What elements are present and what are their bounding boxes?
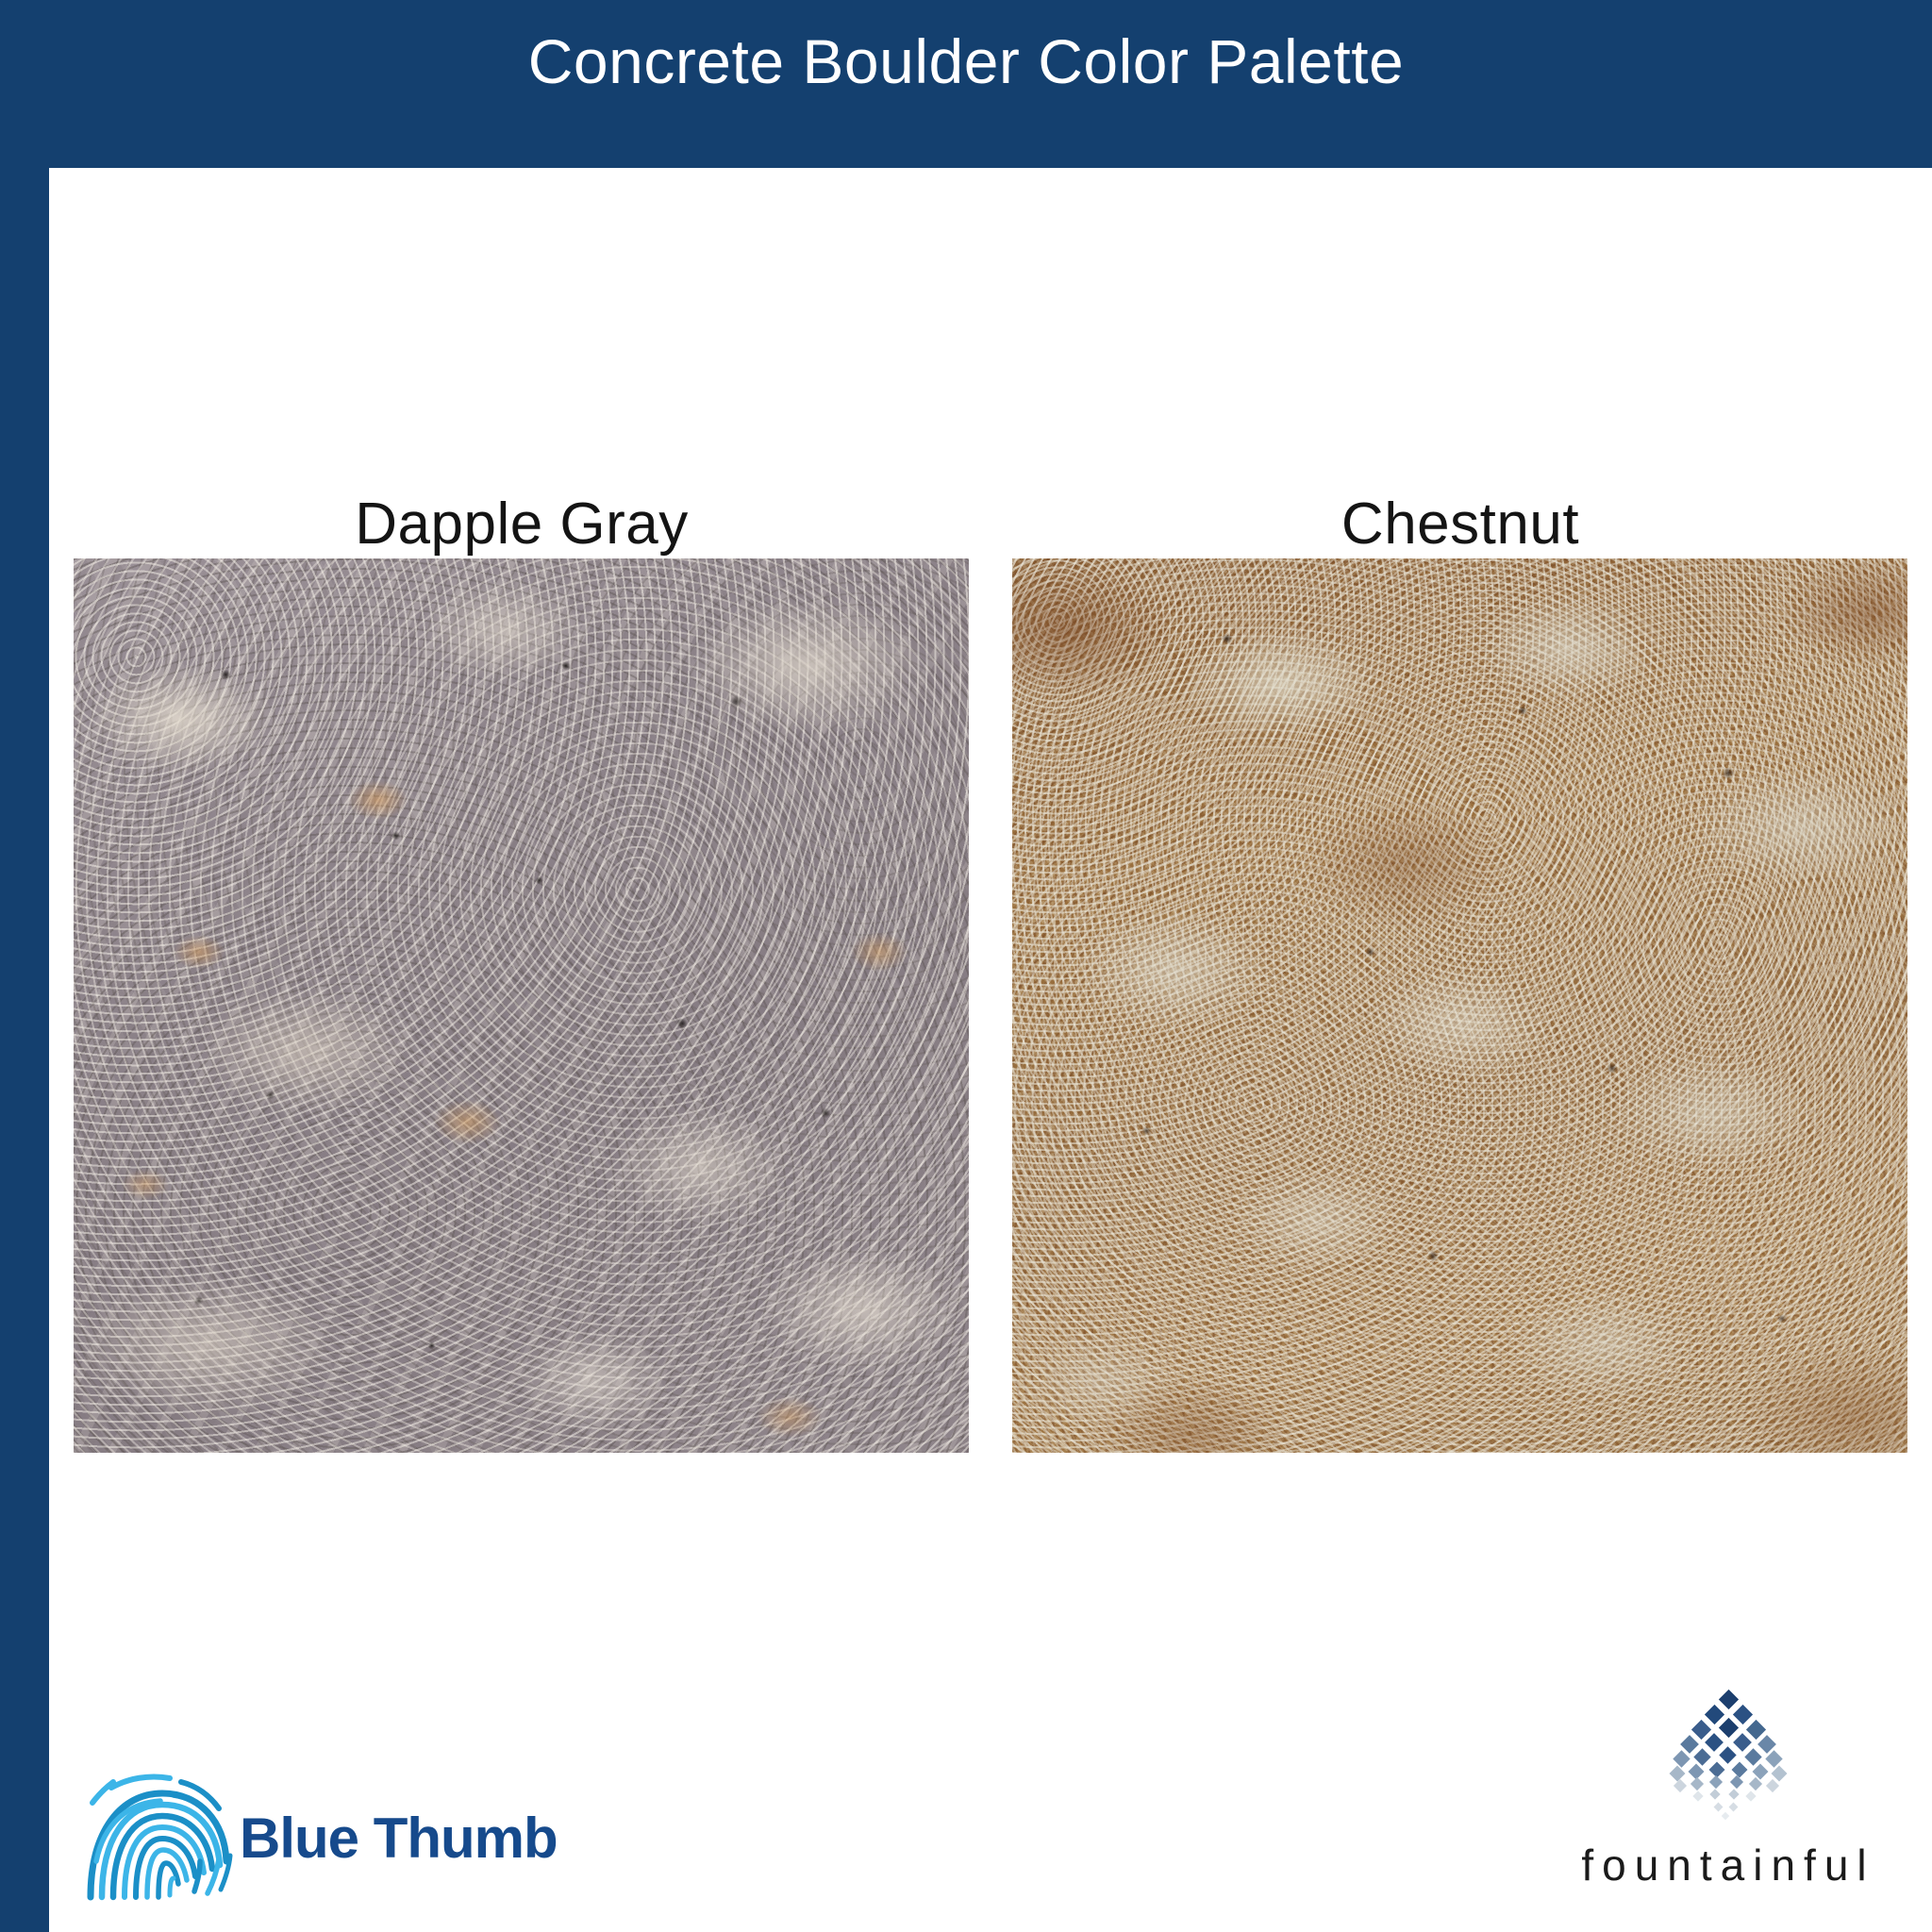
page-title: Concrete Boulder Color Palette [528, 30, 1405, 92]
header-bar: Concrete Boulder Color Palette [0, 0, 1932, 168]
brand-logo-blue-thumb[interactable]: Blue Thumb [83, 1762, 555, 1913]
fingerprint-icon [83, 1771, 234, 1905]
swatch-label-chestnut: Chestnut [1012, 491, 1908, 558]
partner-logo-fountainful[interactable]: fountainful [1549, 1687, 1907, 1894]
texture-chestnut [1012, 558, 1907, 1453]
swatch-image-chestnut[interactable] [1012, 558, 1907, 1453]
swatch-image-dapple-gray[interactable] [74, 558, 969, 1453]
diamond-lattice-teardrop-icon [1653, 1687, 1804, 1828]
texture-dapple-gray [74, 558, 969, 1453]
brand-wordmark: Blue Thumb [240, 1806, 558, 1871]
content-canvas: Dapple Gray Chestnut [49, 168, 1932, 1932]
poster-root: Concrete Boulder Color Palette Dapple Gr… [0, 0, 1932, 1932]
partner-wordmark: fountainful [1581, 1840, 1874, 1890]
swatch-label-dapple-gray: Dapple Gray [74, 491, 970, 558]
